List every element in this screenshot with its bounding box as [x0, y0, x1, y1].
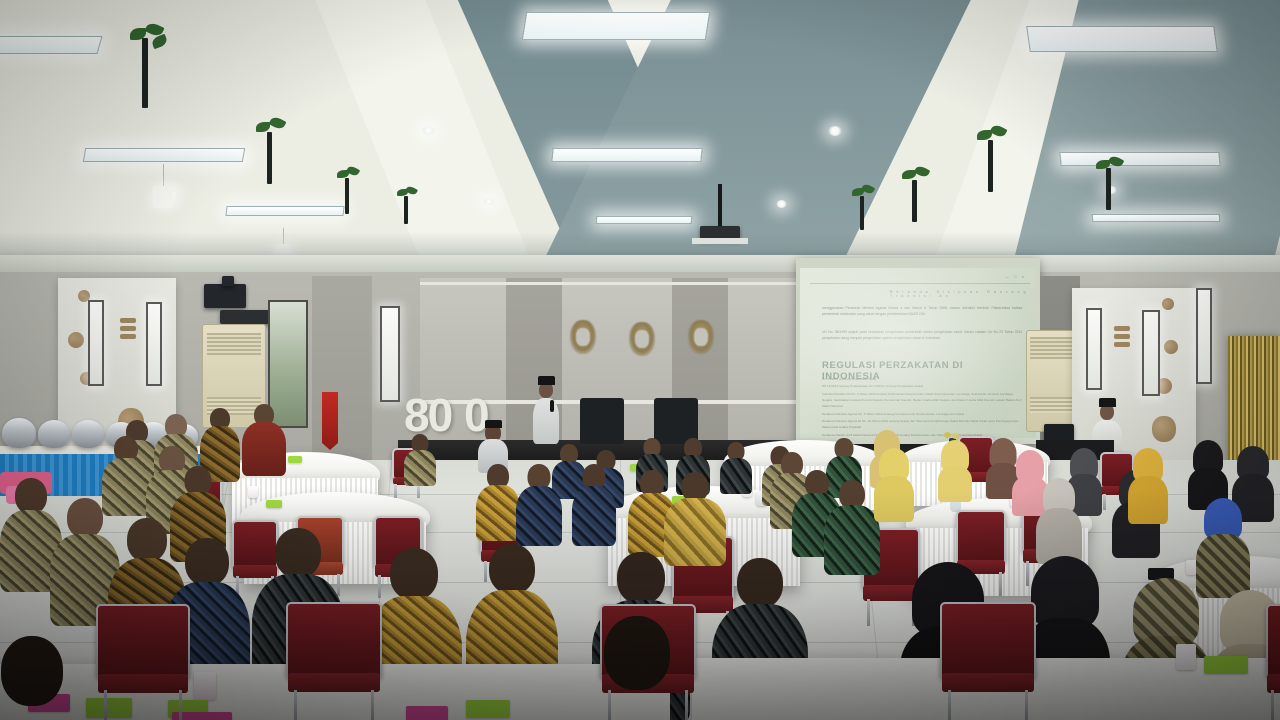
downlight: [422, 126, 435, 135]
wall-ornament: [688, 320, 714, 354]
wood-decor-block: [1114, 342, 1130, 347]
slide-paragraph-1: menggunakan Peraturan Menteri Agama Nomo…: [822, 306, 1022, 318]
window: [1086, 308, 1102, 390]
fluorescent-light: [0, 36, 103, 54]
audience-member: [404, 434, 436, 482]
slide-window-chrome: — □ ×: [810, 272, 1030, 284]
pendant-light: [153, 186, 173, 208]
fluorescent-light: [83, 148, 245, 162]
window: [1142, 310, 1160, 396]
chafing-dish: [2, 418, 36, 448]
wood-decor-block: [120, 334, 136, 339]
audience-member: [0, 636, 70, 720]
banquet-chair: [96, 604, 190, 720]
slide-bullet: Peraturan Menteri Agama No. 5 Tahun 2016…: [822, 411, 1022, 417]
audience-member: [824, 480, 880, 572]
audience-member: [938, 440, 972, 496]
wall-column: [312, 276, 372, 464]
fluorescent-light: [596, 216, 693, 224]
window: [146, 302, 162, 386]
paper-cup: [1176, 644, 1196, 670]
snack-packet: [406, 706, 448, 720]
air-conditioner-unit: [1026, 330, 1078, 432]
banquet-chair: [940, 602, 1036, 720]
window: [1196, 288, 1212, 384]
pendant-wire: [163, 164, 164, 188]
downlight: [776, 200, 787, 208]
stage-number-left: 80: [404, 392, 451, 438]
slide-paragraph-2: UU No. 38/1999 sejauh pada kesadaran pen…: [822, 330, 1022, 342]
slide-surface: — □ × Beranda Sisipkan Rancang Transisi …: [800, 268, 1036, 438]
snack-packet: [266, 500, 282, 508]
projector-mount-pole: [718, 184, 722, 230]
audience-member: [664, 472, 726, 562]
wood-decor-block: [1114, 334, 1130, 339]
songkok-cap-icon: [538, 376, 555, 385]
banquet-chair: [1266, 604, 1280, 720]
audience-member: [1036, 478, 1082, 560]
audience-member: [874, 448, 914, 518]
slide-bullet: PP 14/2014 tentang Pelaksanaan UU 23/201…: [822, 383, 1022, 389]
downlight: [828, 126, 842, 136]
fluorescent-light: [1026, 26, 1218, 52]
microphone-icon: [550, 400, 554, 412]
songkok-cap-icon: [485, 420, 502, 428]
chafing-dish: [72, 420, 104, 448]
slide-bullet: Instruksi Presiden RI No. 3 Tahun 2014 t…: [822, 391, 1022, 410]
projection-screen: — □ × Beranda Sisipkan Rancang Transisi …: [796, 258, 1040, 444]
songkok-cap-icon: [1099, 398, 1116, 407]
snack-packet: [1204, 656, 1248, 674]
presenter-body: [533, 398, 559, 444]
presenter-speaker: [530, 372, 562, 444]
fluorescent-light: [551, 148, 702, 162]
fluorescent-light: [522, 12, 710, 40]
stage-chair: [580, 398, 624, 444]
audience-member: [516, 464, 562, 542]
chafing-dish: [38, 420, 70, 448]
slide-bullet: UU 23/2011 tentang Pengelolaan Zakat: [822, 376, 1022, 382]
banquet-chair: [286, 602, 382, 720]
slide-bullet: Peraturan Menteri Agama RI No. 52 Tahun …: [822, 418, 1022, 431]
window-controls-icon: — □ ×: [1005, 274, 1026, 279]
conference-hall-photo: 80 0 — □ × Beranda Sisipkan Rancang Tran…: [0, 0, 1280, 720]
audience-member: [594, 616, 680, 720]
paper-cup: [194, 672, 216, 700]
snack-packet: [288, 456, 302, 463]
wall-speaker-mount: [222, 276, 234, 286]
wood-decor-block: [1114, 326, 1130, 331]
red-flag: [322, 392, 338, 450]
downlight: [484, 198, 494, 205]
audience-member: [476, 464, 520, 538]
window: [88, 300, 104, 386]
wall-ornament: [629, 322, 655, 356]
wall-ornament: [570, 320, 596, 354]
fluorescent-light: [1059, 152, 1220, 166]
wood-decor-block: [120, 318, 136, 323]
wood-decor-block: [120, 326, 136, 331]
fluorescent-light: [225, 206, 344, 216]
window: [380, 306, 400, 402]
wall-speaker-icon: [204, 284, 246, 308]
audience-member: [1128, 448, 1168, 520]
slide-bullet-list: UU 23/2011 tentang Pengelolaan Zakat PP …: [822, 376, 1022, 438]
projector-icon: [220, 310, 274, 324]
audience-member: [242, 404, 286, 474]
slide-menu-bar: Beranda Sisipkan Rancang Transisi An: [890, 290, 1036, 298]
projector-plate: [692, 238, 748, 244]
audience-member: [572, 464, 616, 542]
fluorescent-light: [1092, 214, 1221, 222]
snack-packet: [466, 700, 510, 718]
audience-member: [1188, 440, 1228, 502]
paper-cup: [248, 486, 258, 498]
